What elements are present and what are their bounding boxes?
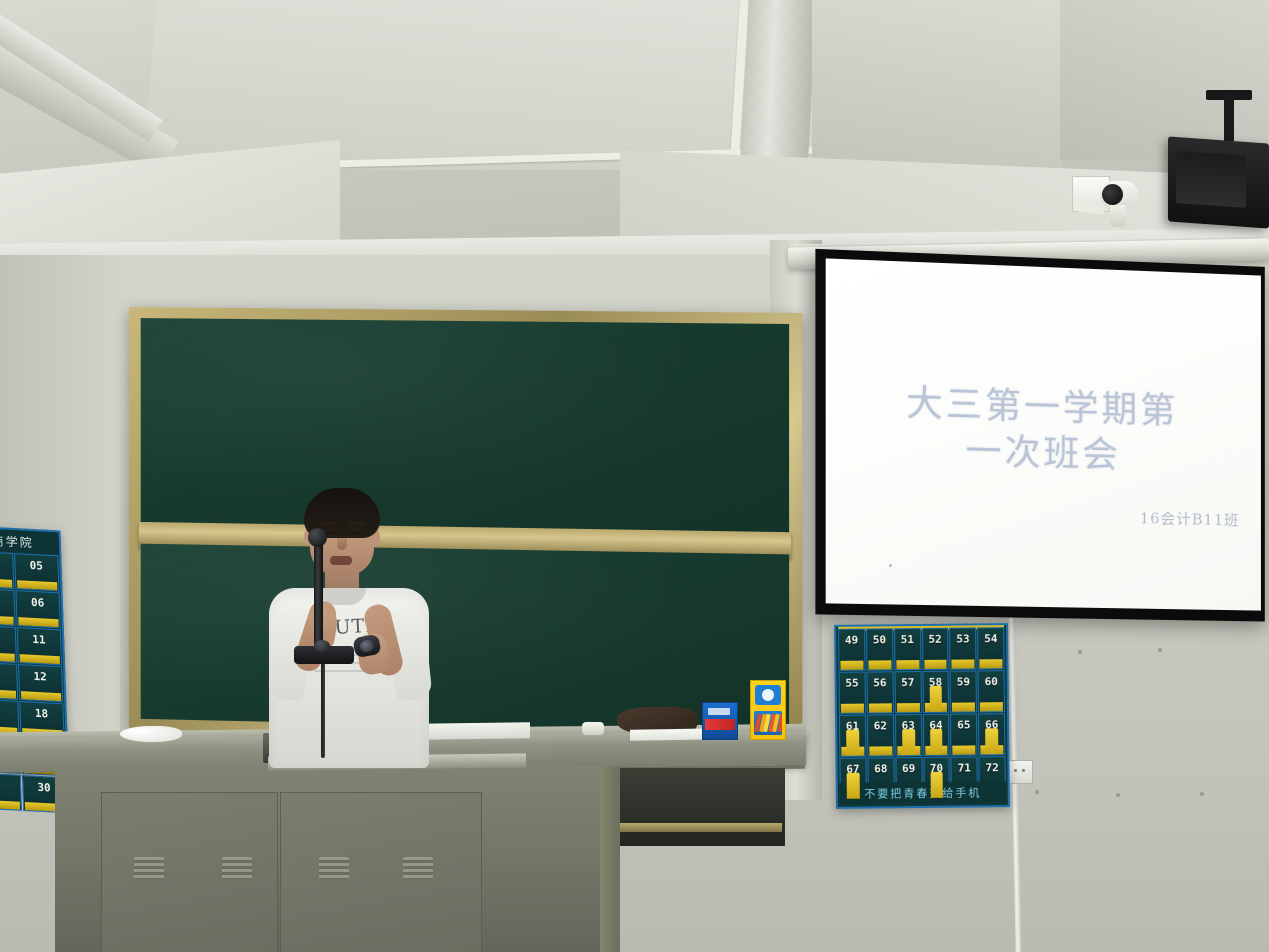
phone-pocket[interactable]: 11 <box>16 627 62 665</box>
desk-shelf-rail <box>606 823 782 832</box>
phone-pocket-number: 56 <box>873 672 886 688</box>
phone-pocket-number: 60 <box>984 671 997 687</box>
pocket-caption: 不要把青春交给手机 <box>840 781 1006 805</box>
phone-pocket[interactable]: 56 <box>866 671 893 713</box>
phone-pocket-number: 11 <box>32 629 46 647</box>
screen-surface: 大三第一学期第 一次班会 16会计B11班 <box>826 258 1261 610</box>
cabinet-door-right[interactable] <box>280 792 482 952</box>
chalk-box-brand-mark <box>708 708 730 715</box>
chalk-holder <box>582 722 604 735</box>
blackboard-panel-lower: 生活委员 组织委员 心理委员 <box>141 544 789 734</box>
podium-cabinet <box>55 766 600 952</box>
cabinet-vent <box>222 857 252 879</box>
pocket-grid: 4950515253545556575859606162636465666768… <box>836 625 1008 800</box>
phone-pocket-organizer-left: 商学院 05061112182430 <box>0 526 68 747</box>
mouth <box>330 556 352 565</box>
microphone-cord <box>321 662 325 758</box>
phone-pocket[interactable]: 60 <box>978 670 1005 712</box>
blackboard-inner: 生活委员 组织委员 心理委员 <box>141 318 789 733</box>
nose <box>337 538 347 550</box>
phone-pocket[interactable]: 65 <box>950 713 977 755</box>
phone-pocket[interactable]: 57 <box>894 671 921 713</box>
ceiling-far-right-face <box>1060 0 1269 160</box>
phone-pocket-number: 59 <box>957 671 970 687</box>
phone-pocket-organizer-right: 4950515253545556575859606162636465666768… <box>834 623 1010 809</box>
phone-pocket-number: 50 <box>873 629 886 645</box>
phone-pocket-number: 05 <box>29 555 43 573</box>
presenter: OUTH <box>262 488 437 768</box>
phone-pocket[interactable]: 50 <box>866 628 893 670</box>
phone-pocket-number: 18 <box>34 703 48 721</box>
wall-nail-mark <box>1200 792 1204 796</box>
wall-nail-mark <box>1158 648 1162 652</box>
phone-pocket-number: 62 <box>874 715 887 731</box>
phone-pocket-number: 51 <box>901 629 914 645</box>
phone-pocket-number: 66 <box>985 714 998 730</box>
screen-speck <box>889 564 892 567</box>
wall-nail-mark <box>1116 793 1120 797</box>
desk-leg <box>600 766 620 952</box>
phone-pocket[interactable]: 58 <box>922 671 949 713</box>
phone-pocket[interactable]: 06 <box>15 590 61 628</box>
phone-pocket[interactable] <box>0 551 14 589</box>
slide-title: 大三第一学期第 一次班会 <box>826 378 1255 482</box>
phone-pocket-number: 70 <box>930 758 943 774</box>
phone-pocket-number: 49 <box>845 630 858 646</box>
phone-pocket[interactable]: 63 <box>895 714 922 756</box>
phone-pocket-number: 53 <box>956 628 969 644</box>
phone-pocket[interactable] <box>0 773 22 811</box>
phone-pocket-number: 52 <box>928 629 941 645</box>
wall-nail-mark <box>1078 650 1082 654</box>
phone-pocket[interactable]: 12 <box>17 664 63 702</box>
cabinet-door-left[interactable] <box>101 792 278 952</box>
phone-pocket[interactable]: 59 <box>950 670 977 712</box>
phone-pocket[interactable]: 52 <box>922 628 949 670</box>
phone-pocket[interactable]: 66 <box>978 713 1005 755</box>
colored-chalk-box <box>750 680 786 740</box>
phone-pocket-number: 12 <box>33 666 47 684</box>
phone-pocket[interactable] <box>0 588 15 626</box>
ceiling <box>0 0 1269 262</box>
blue-chalk-box <box>702 702 738 740</box>
crumpled-tissue <box>120 726 182 742</box>
phone-pocket[interactable]: 61 <box>839 715 866 757</box>
classroom-photo: 生活委员 组织委员 心理委员 大三第一学期第 一次班会 16会计B11班 495… <box>0 0 1269 952</box>
microphone-body <box>314 536 323 648</box>
blackboard-panel-upper <box>141 318 789 538</box>
phone-pocket-number: 58 <box>929 672 942 688</box>
phone-pocket[interactable]: 62 <box>867 714 894 756</box>
cabinet-vent <box>403 857 433 879</box>
phone-pocket-number: 61 <box>846 716 859 732</box>
phone-pocket-number: 68 <box>874 758 887 774</box>
slide-subtitle: 16会计B11班 <box>1140 507 1240 530</box>
desk-shelf-recess <box>600 768 785 846</box>
phone-pocket[interactable]: 49 <box>838 629 865 671</box>
phone-pocket[interactable]: 54 <box>977 627 1004 669</box>
cabinet-vent <box>319 857 349 879</box>
projector-mount-arm <box>1224 92 1234 144</box>
chalk-box-circle-logo <box>762 689 774 701</box>
chalk-box-label-band <box>705 719 735 730</box>
cabinet-vent <box>134 857 164 879</box>
camera-lens-icon <box>1102 184 1123 205</box>
phone-pocket-number: 67 <box>846 759 859 775</box>
phone-pocket-number: 64 <box>929 715 942 731</box>
wall-outlet[interactable] <box>1007 760 1033 784</box>
camera-stalk <box>1110 205 1126 227</box>
phone-pocket-number: 71 <box>958 757 971 773</box>
phone-pocket[interactable]: 05 <box>14 553 60 591</box>
phone-pocket[interactable] <box>0 625 16 663</box>
paper-stack <box>420 722 530 740</box>
phone-pocket[interactable]: 55 <box>839 672 866 714</box>
phone-pocket[interactable]: 53 <box>949 627 976 669</box>
pocket-left-header: 商学院 <box>0 528 59 555</box>
projector-lens-face <box>1176 151 1246 208</box>
phone-pocket-number: 54 <box>984 628 997 644</box>
ceiling-right-face <box>812 0 1062 175</box>
chalk-box-crayon-art <box>754 711 782 735</box>
phone-pocket-number: 06 <box>31 592 45 610</box>
phone-pocket-number: 30 <box>37 777 51 795</box>
phone-pocket[interactable]: 51 <box>894 628 921 670</box>
projector-icon <box>1168 136 1269 228</box>
phone-pocket-number: 57 <box>901 672 914 688</box>
phone-pocket-number: 55 <box>845 673 858 689</box>
microphone-head-icon <box>308 528 327 547</box>
phone-pocket-number: 69 <box>902 758 915 774</box>
phone-pocket[interactable] <box>0 662 18 700</box>
phone-pocket[interactable]: 64 <box>922 714 949 756</box>
eye-right <box>350 529 363 534</box>
phone-pocket-number: 65 <box>957 714 970 730</box>
projection-screen: 大三第一学期第 一次班会 16会计B11班 <box>815 249 1264 622</box>
phone-pocket-number: 63 <box>901 715 914 731</box>
phone-pocket-number: 72 <box>985 757 998 773</box>
blackboard: 生活委员 组织委员 心理委员 <box>129 307 802 746</box>
wall-nail-mark <box>1035 790 1039 794</box>
microphone-knob <box>314 640 330 652</box>
